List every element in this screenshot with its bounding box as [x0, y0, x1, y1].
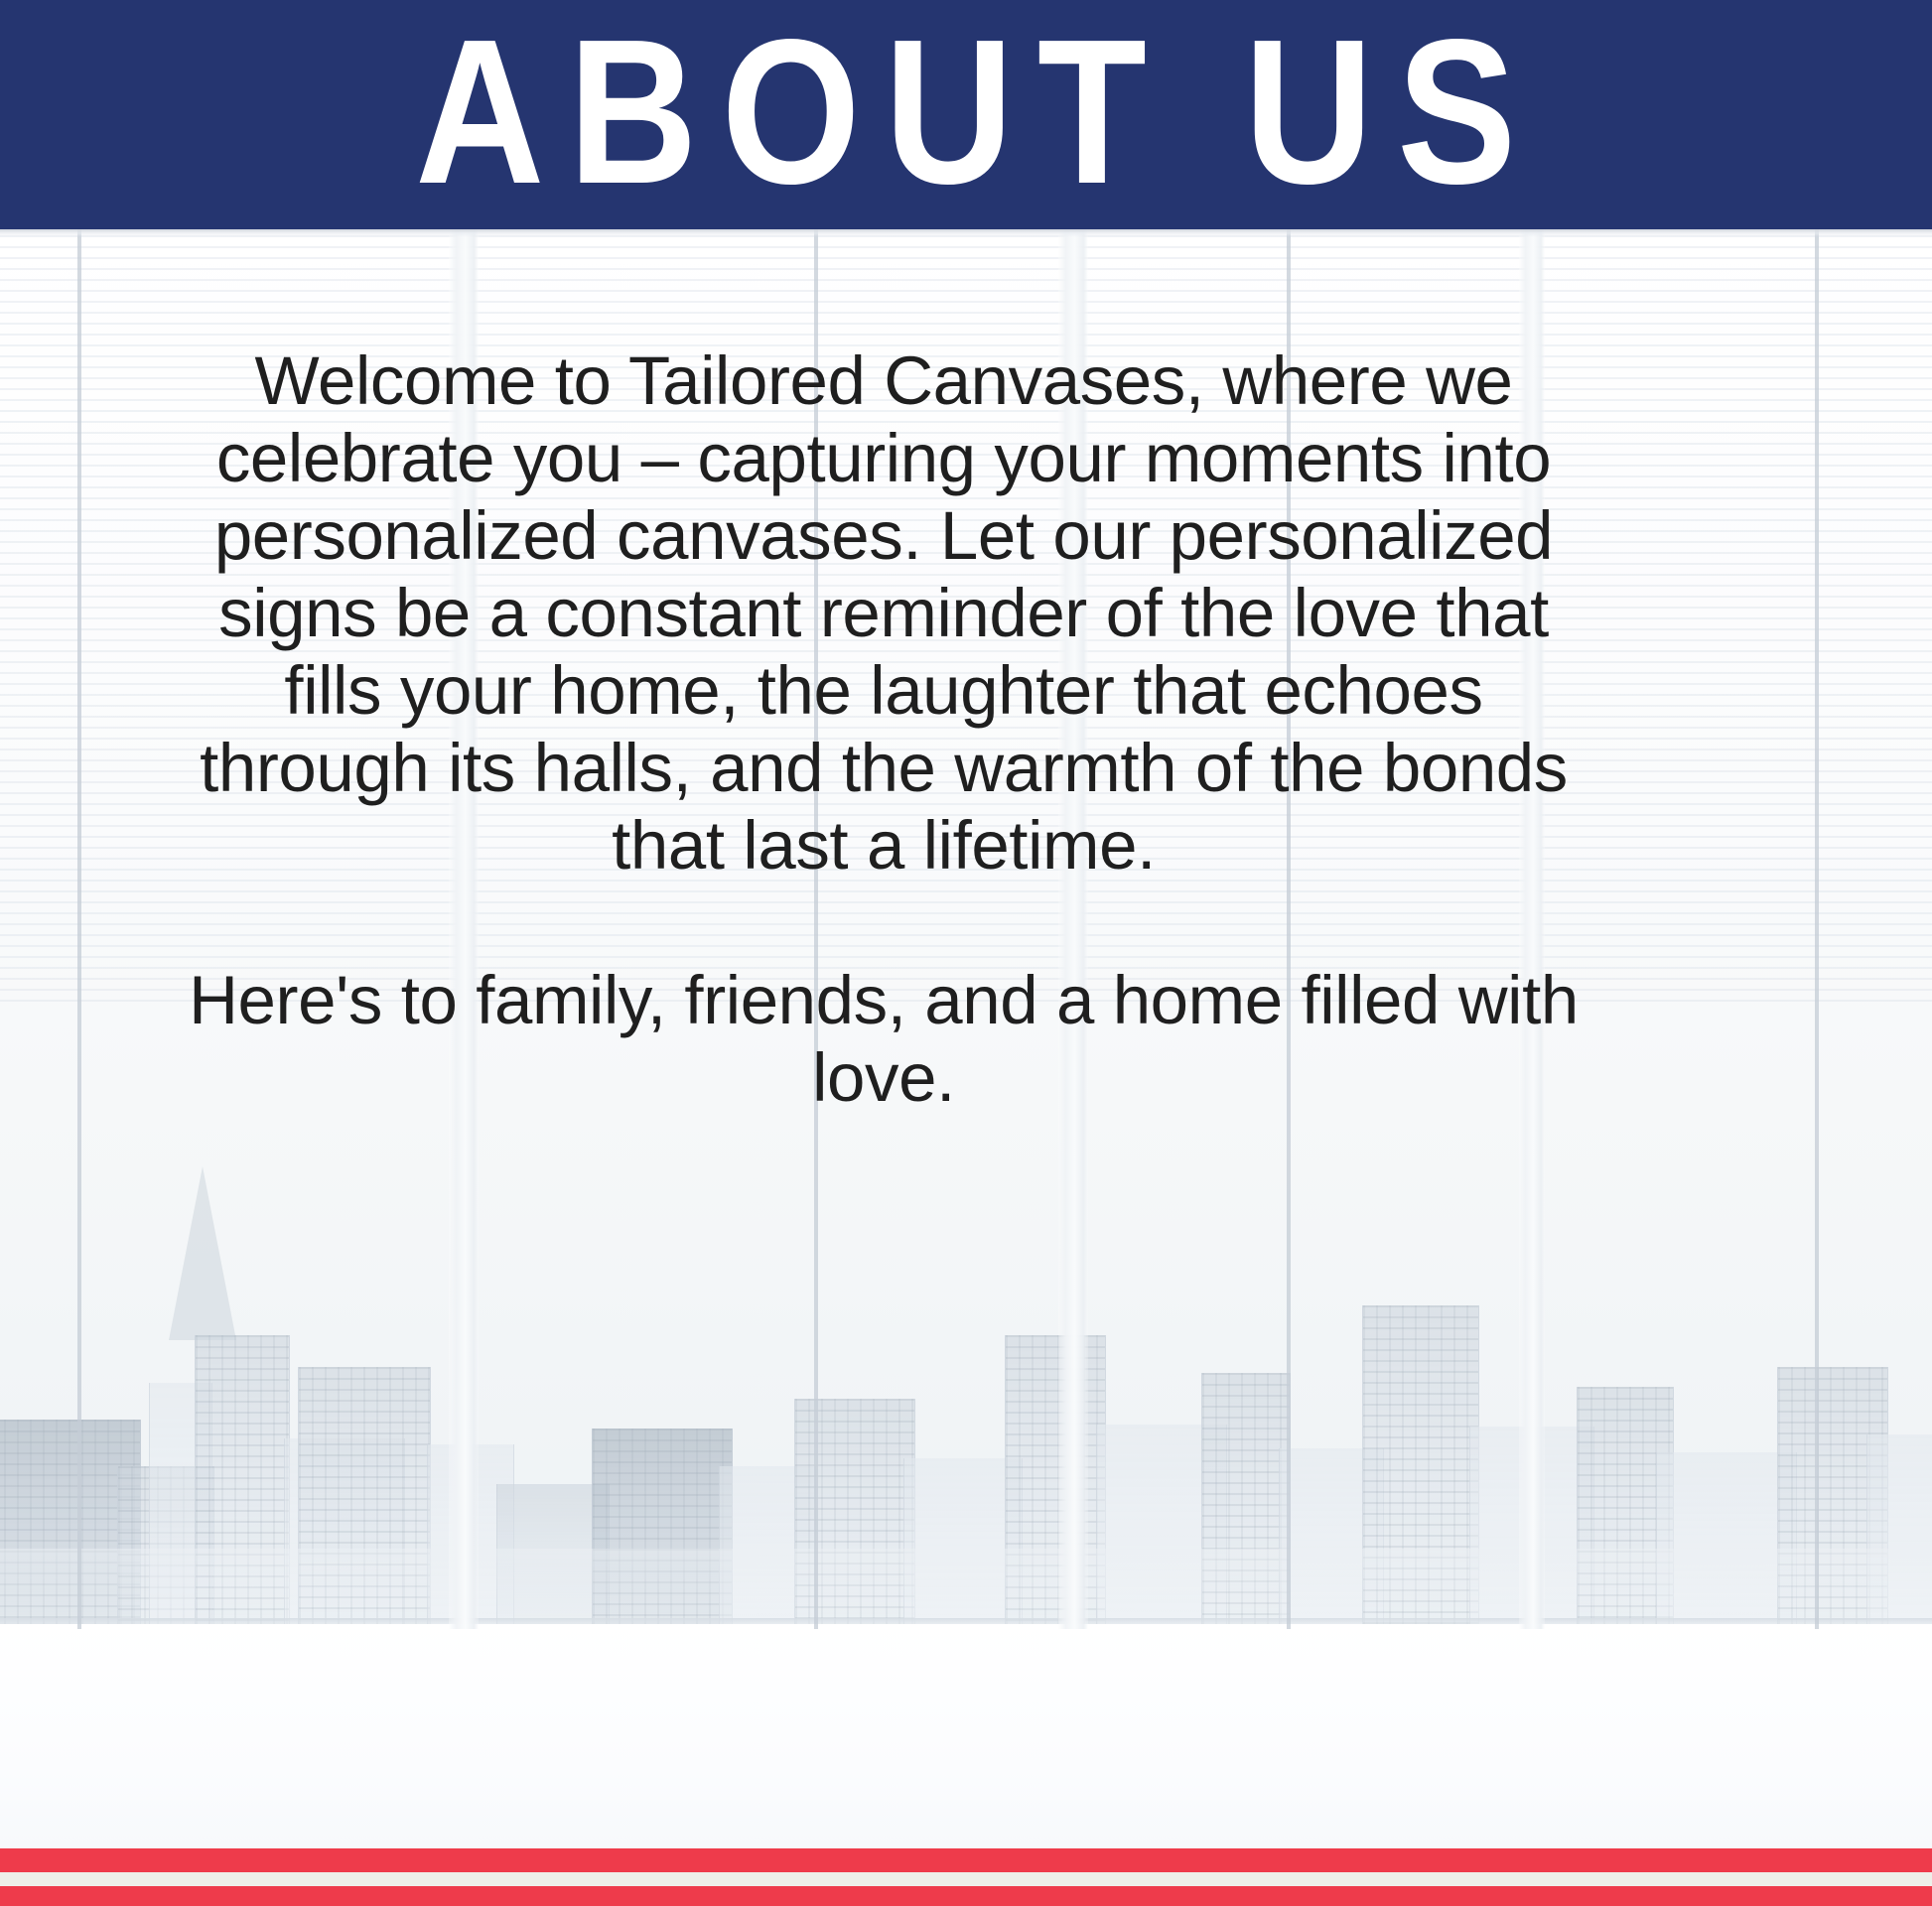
about-paragraph-1: Welcome to Tailored Canvases, where we c…: [189, 342, 1579, 885]
about-paragraph-2: Here's to family, friends, and a home fi…: [189, 962, 1579, 1117]
footer-stripe-bottom: [0, 1886, 1932, 1906]
header-bar: ABOUT US: [0, 0, 1932, 229]
about-us-poster: ABOUT US Welcome to Tailored Canvases, w…: [0, 0, 1932, 1906]
header-underline: [0, 229, 1932, 237]
page-title: ABOUT US: [392, 9, 1541, 215]
paragraph-spacer: [189, 885, 1579, 962]
founder-block: Founder of Tailored Canvases: [0, 1400, 1932, 1827]
footer-stripe-top: [0, 1848, 1932, 1872]
footer-stripe-gap: [0, 1872, 1932, 1886]
about-us-body: Welcome to Tailored Canvases, where we c…: [189, 342, 1579, 1117]
